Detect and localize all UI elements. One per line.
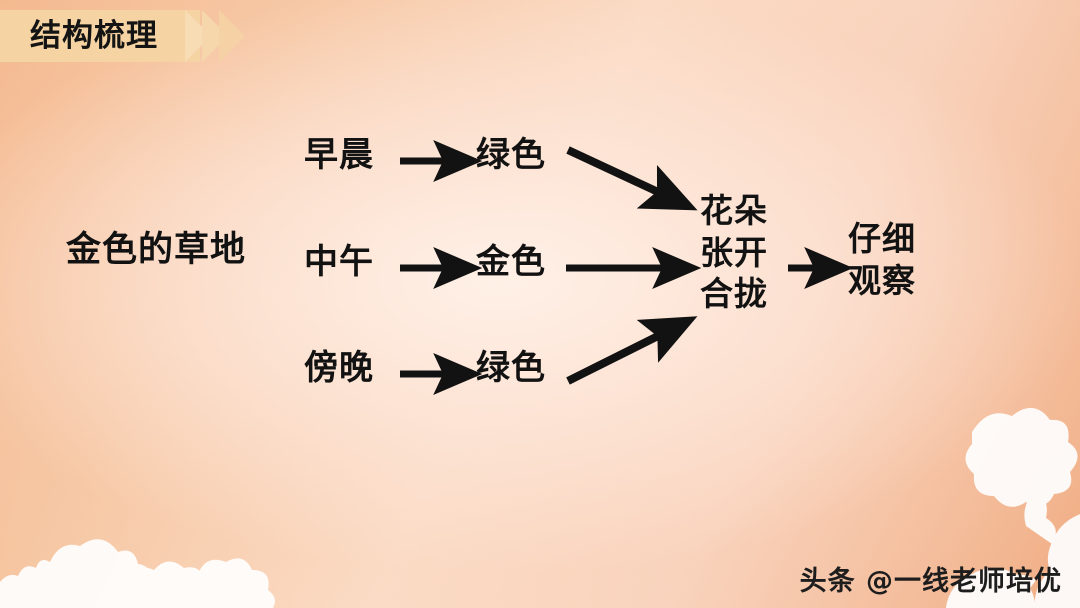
diagram-node-color-morning: 绿色 (476, 137, 546, 173)
diagram-node-color-evening: 绿色 (476, 350, 546, 386)
diagram-arrow-layer (0, 0, 1080, 608)
diagram-node-time-noon: 中午 (304, 244, 374, 280)
slide-canvas: 结构梳理 金 (0, 0, 1080, 608)
watermark: 头条 @一线老师培优 (800, 559, 1062, 598)
arrow-green-morning-to-flower (568, 150, 686, 205)
diagram-node-topic: 金色的草地 (66, 232, 246, 269)
diagram-node-conclusion-line: 观察 (848, 260, 916, 302)
arrow-green-evening-to-flower (568, 322, 686, 381)
diagram-node-flower-line: 张开 (700, 232, 768, 274)
diagram-node-color-noon: 金色 (476, 244, 546, 280)
diagram-node-flower: 花朵 张开 合拢 (700, 190, 768, 315)
diagram-node-conclusion-line: 仔细 (848, 218, 916, 260)
diagram-node-flower-line: 合拢 (700, 273, 768, 315)
structure-diagram: 金色的草地 早晨 中午 傍晚 绿色 金色 绿色 花朵 张开 合拢 仔细 观察 (0, 0, 1080, 608)
diagram-node-flower-line: 花朵 (700, 190, 768, 232)
diagram-node-conclusion: 仔细 观察 (848, 218, 916, 301)
diagram-node-time-morning: 早晨 (304, 137, 374, 173)
diagram-node-time-evening: 傍晚 (304, 350, 374, 386)
